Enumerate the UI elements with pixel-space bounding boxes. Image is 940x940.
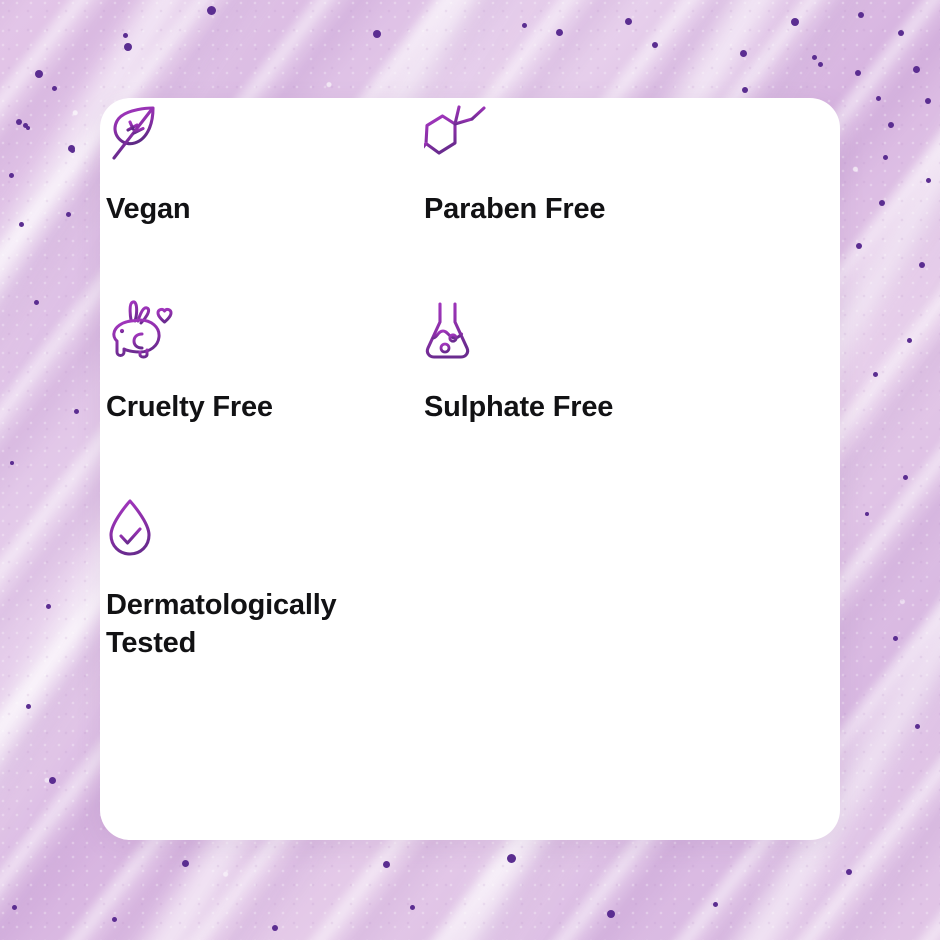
droplet-check-icon: [106, 498, 424, 560]
flask-icon: [424, 300, 666, 362]
leaf-icon: [106, 102, 424, 164]
molecule-icon: [424, 102, 666, 164]
claim-item-vegan: Vegan: [106, 102, 424, 228]
claim-label: Dermatologically Tested: [106, 586, 424, 662]
claim-label: Paraben Free: [424, 190, 666, 228]
claim-item-dermatologically-tested: Dermatologically Tested: [106, 498, 424, 662]
product-claims-graphic: Vegan: [0, 0, 940, 940]
claim-label: Cruelty Free: [106, 388, 424, 426]
claims-grid: Vegan: [106, 102, 666, 662]
claim-item-cruelty-free: Cruelty Free: [106, 300, 424, 426]
claims-row-3: Dermatologically Tested: [106, 498, 666, 662]
claim-label: Sulphate Free: [424, 388, 666, 426]
claim-label: Vegan: [106, 190, 424, 228]
claim-item-paraben-free: Paraben Free: [424, 102, 666, 228]
claim-item-sulphate-free: Sulphate Free: [424, 300, 666, 426]
rabbit-heart-icon: [106, 300, 424, 362]
claims-row-2: Cruelty Free: [106, 300, 666, 426]
claims-row-1: Vegan: [106, 102, 666, 228]
